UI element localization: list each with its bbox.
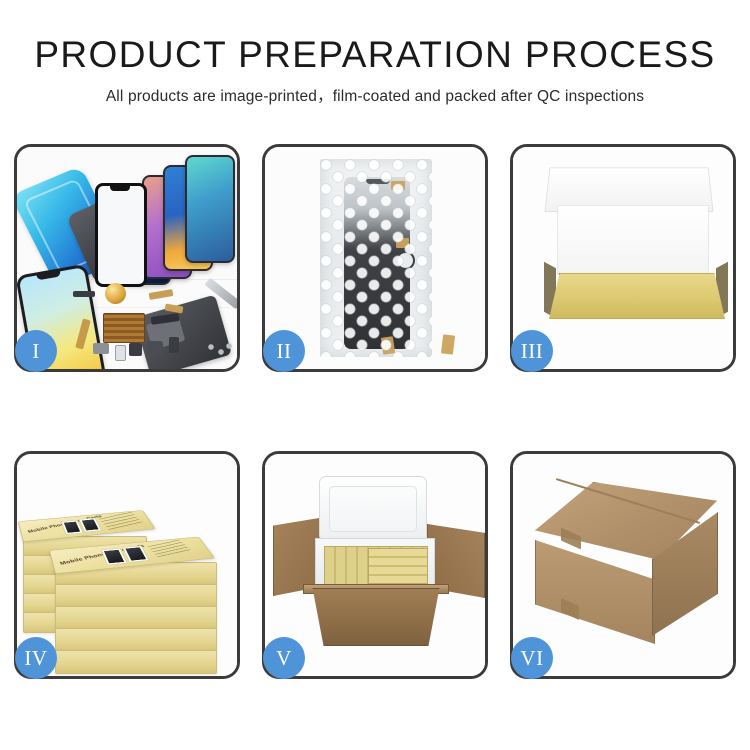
yellow-boxes-stack [368, 548, 428, 584]
page-subtitle: All products are image-printed，film-coat… [0, 84, 750, 106]
process-step-3: III [510, 144, 736, 372]
foam-sheet-icon [557, 205, 709, 275]
process-steps-grid: I II [14, 144, 736, 679]
bubble-texture [320, 159, 432, 357]
chip-grid-icon [103, 313, 145, 343]
carton-front [307, 588, 445, 646]
box-edge [55, 628, 217, 652]
box-stack: Mobile Phone Spare Parts Mobile Phone Sp… [23, 478, 235, 664]
process-step-5: V [262, 451, 488, 679]
box-edge [55, 606, 217, 630]
step-badge-2: II [263, 330, 305, 372]
step-badge-4: IV [15, 637, 57, 679]
box-front-icon [549, 273, 725, 319]
product-preparation-infographic: PRODUCT PREPARATION PROCESS All products… [0, 0, 750, 750]
box-spec-lines [148, 540, 192, 559]
carton-left-face [535, 540, 655, 644]
part-icon [169, 337, 179, 353]
step-badge-1: I [15, 330, 57, 372]
process-step-4: Mobile Phone Spare Parts Mobile Phone Sp… [14, 451, 240, 679]
part-icon [129, 343, 142, 356]
flex-cable-icon [149, 289, 174, 300]
foam-lid-icon [319, 476, 427, 542]
step-badge-5: V [263, 637, 305, 679]
screws-icon [207, 343, 233, 359]
box-edge [55, 650, 217, 674]
step-badge-3: III [511, 330, 553, 372]
part-icon [73, 291, 95, 297]
gold-component-icon [105, 283, 126, 304]
bubble-wrap-bag [320, 159, 432, 357]
process-step-1: I [14, 144, 240, 372]
page-title: PRODUCT PREPARATION PROCESS [0, 36, 750, 75]
step-badge-6: VI [511, 637, 553, 679]
part-icon [93, 343, 109, 354]
box-edge [55, 584, 217, 608]
process-step-6: VI [510, 451, 736, 679]
tape-icon [441, 334, 455, 354]
screen-protector-icon [95, 183, 147, 287]
part-icon [147, 341, 163, 355]
process-step-2: II [262, 144, 488, 372]
box-spec-lines [99, 512, 143, 532]
header: PRODUCT PREPARATION PROCESS All products… [0, 0, 750, 106]
phone-teal-icon [185, 155, 235, 263]
part-icon [115, 345, 126, 361]
